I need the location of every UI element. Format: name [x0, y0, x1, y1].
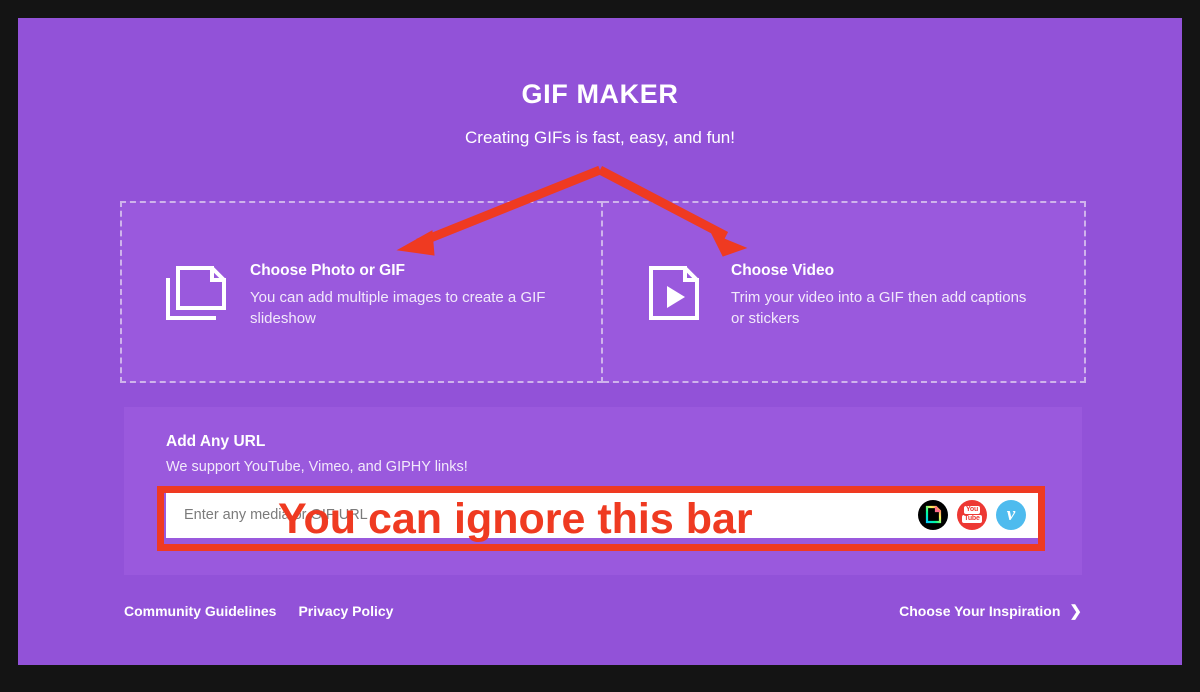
chevron-right-icon: ❯: [1069, 604, 1082, 619]
page-footer: Community Guidelines Privacy Policy Choo…: [124, 603, 1082, 619]
page-title: GIF MAKER: [18, 80, 1182, 110]
card-title: Choose Video: [731, 262, 1031, 280]
add-url-subtitle: We support YouTube, Vimeo, and GIPHY lin…: [166, 451, 1040, 476]
page-header: GIF MAKER Creating GIFs is fast, easy, a…: [18, 18, 1182, 147]
video-file-icon: [645, 258, 711, 327]
screenshot-frame: GIF MAKER Creating GIFs is fast, easy, a…: [0, 0, 1200, 692]
footer-links: Community Guidelines Privacy Policy: [124, 603, 393, 619]
youtube-badge: You Tube: [962, 504, 983, 525]
url-input[interactable]: [184, 491, 908, 538]
card-content: Choose Video Trim your video into a GIF …: [603, 258, 1031, 329]
card-text: Choose Photo or GIF You can add multiple…: [250, 258, 550, 329]
card-description: You can add multiple images to create a …: [250, 287, 550, 330]
card-text: Choose Video Trim your video into a GIF …: [731, 258, 1031, 329]
vimeo-icon[interactable]: v: [996, 500, 1026, 530]
page-subtitle: Creating GIFs is fast, easy, and fun!: [18, 110, 1182, 148]
choose-video-card[interactable]: Choose Video Trim your video into a GIF …: [603, 201, 1086, 383]
choose-your-inspiration-button[interactable]: Choose Your Inspiration ❯: [899, 603, 1082, 619]
youtube-label-top: You: [964, 506, 980, 514]
choose-your-inspiration-label: Choose Your Inspiration: [899, 603, 1060, 619]
add-url-panel: Add Any URL We support YouTube, Vimeo, a…: [124, 407, 1082, 575]
stacked-photos-icon: [164, 258, 230, 327]
choose-photo-or-gif-card[interactable]: Choose Photo or GIF You can add multiple…: [120, 201, 603, 383]
gif-maker-page: GIF MAKER Creating GIFs is fast, easy, a…: [18, 18, 1182, 665]
youtube-label-bottom: Tube: [962, 515, 981, 523]
supported-brands: You Tube v: [908, 500, 1026, 530]
privacy-policy-link[interactable]: Privacy Policy: [298, 603, 393, 619]
community-guidelines-link[interactable]: Community Guidelines: [124, 603, 276, 619]
card-title: Choose Photo or GIF: [250, 262, 550, 280]
youtube-icon[interactable]: You Tube: [957, 500, 987, 530]
upload-options: Choose Photo or GIF You can add multiple…: [120, 201, 1086, 383]
url-input-row: You Tube v: [166, 491, 1040, 538]
add-url-title: Add Any URL: [166, 433, 1040, 451]
card-content: Choose Photo or GIF You can add multiple…: [122, 258, 550, 329]
card-description: Trim your video into a GIF then add capt…: [731, 287, 1031, 330]
giphy-icon[interactable]: [918, 500, 948, 530]
vimeo-label: v: [1007, 505, 1015, 524]
